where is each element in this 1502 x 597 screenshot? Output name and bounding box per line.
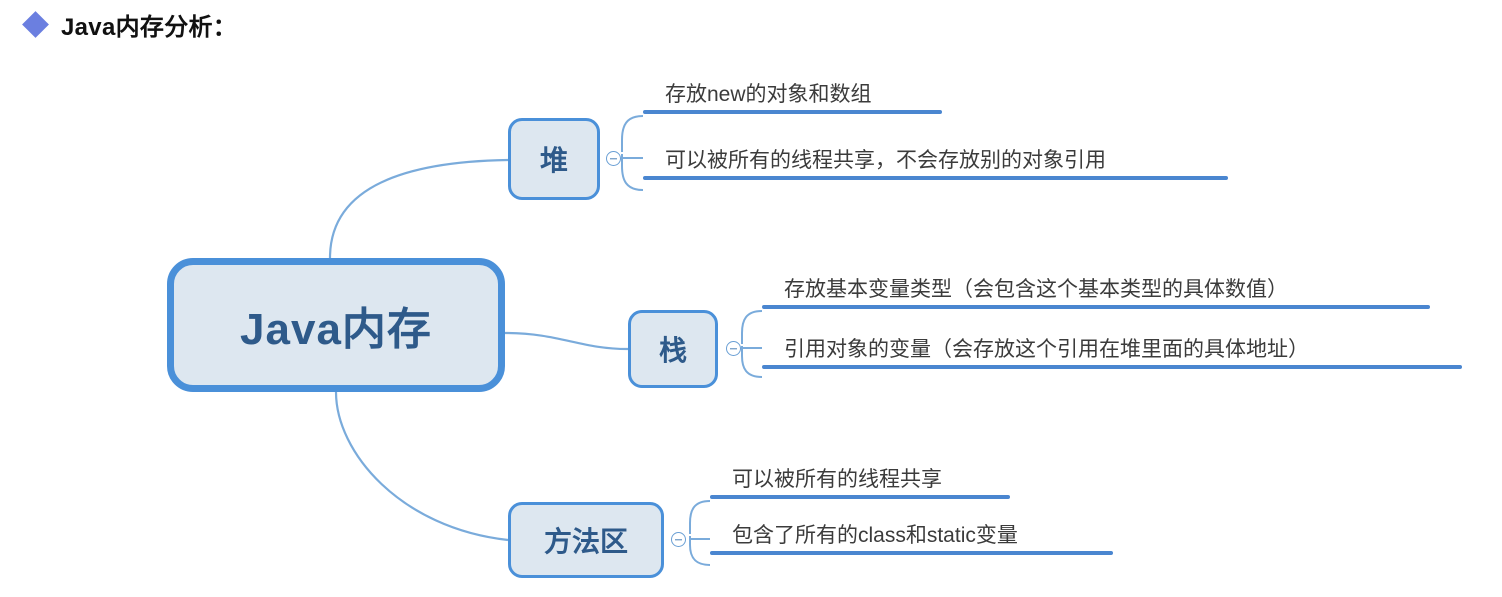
mindmap-leaf-stack-1-underline [762, 305, 1430, 309]
mindmap-leaf-heap-2-label: 可以被所有的线程共享，不会存放别的对象引用 [643, 148, 1228, 174]
mindmap-root-node[interactable]: Java内存 [167, 258, 505, 392]
mindmap-leaf-stack-2-label: 引用对象的变量（会存放这个引用在堆里面的具体地址） [762, 337, 1462, 363]
collapse-toggle-stack-minus-icon[interactable] [726, 341, 741, 356]
mindmap-leaf-method-area-2-label: 包含了所有的class和static变量 [710, 523, 1113, 549]
mindmap-branch-node-method-area-label: 方法区 [544, 520, 628, 560]
mindmap-leaf-method-area-2[interactable]: 包含了所有的class和static变量 [710, 523, 1113, 555]
mindmap-leaf-heap-2[interactable]: 可以被所有的线程共享，不会存放别的对象引用 [643, 148, 1228, 180]
mindmap-branch-node-stack[interactable]: 栈 [628, 310, 718, 388]
mindmap-leaf-method-area-2-underline [710, 551, 1113, 555]
mindmap-canvas: Java内存 堆 存放new的对象和数组 可以被所有的线程共享，不会存放别的对象… [0, 0, 1502, 597]
mindmap-branch-node-heap[interactable]: 堆 [508, 118, 600, 200]
mindmap-leaf-heap-2-underline [643, 176, 1228, 180]
mindmap-leaf-method-area-1-label: 可以被所有的线程共享 [710, 467, 1010, 493]
mindmap-branch-node-heap-label: 堆 [540, 139, 568, 179]
mindmap-root-node-label: Java内存 [240, 293, 432, 357]
mindmap-leaf-method-area-1-underline [710, 495, 1010, 499]
mindmap-leaf-stack-1-label: 存放基本变量类型（会包含这个基本类型的具体数值） [762, 277, 1430, 303]
mindmap-leaf-heap-1-label: 存放new的对象和数组 [643, 82, 942, 108]
mindmap-leaf-stack-1[interactable]: 存放基本变量类型（会包含这个基本类型的具体数值） [762, 277, 1430, 309]
collapse-toggle-heap-minus-icon[interactable] [606, 151, 621, 166]
mindmap-branch-node-method-area[interactable]: 方法区 [508, 502, 664, 578]
mindmap-branch-node-stack-label: 栈 [659, 329, 687, 369]
mindmap-leaf-stack-2[interactable]: 引用对象的变量（会存放这个引用在堆里面的具体地址） [762, 337, 1462, 369]
collapse-toggle-method-area-minus-icon[interactable] [671, 532, 686, 547]
mindmap-leaf-method-area-1[interactable]: 可以被所有的线程共享 [710, 467, 1010, 499]
mindmap-leaf-heap-1[interactable]: 存放new的对象和数组 [643, 82, 942, 114]
mindmap-leaf-heap-1-underline [643, 110, 942, 114]
mindmap-leaf-stack-2-underline [762, 365, 1462, 369]
